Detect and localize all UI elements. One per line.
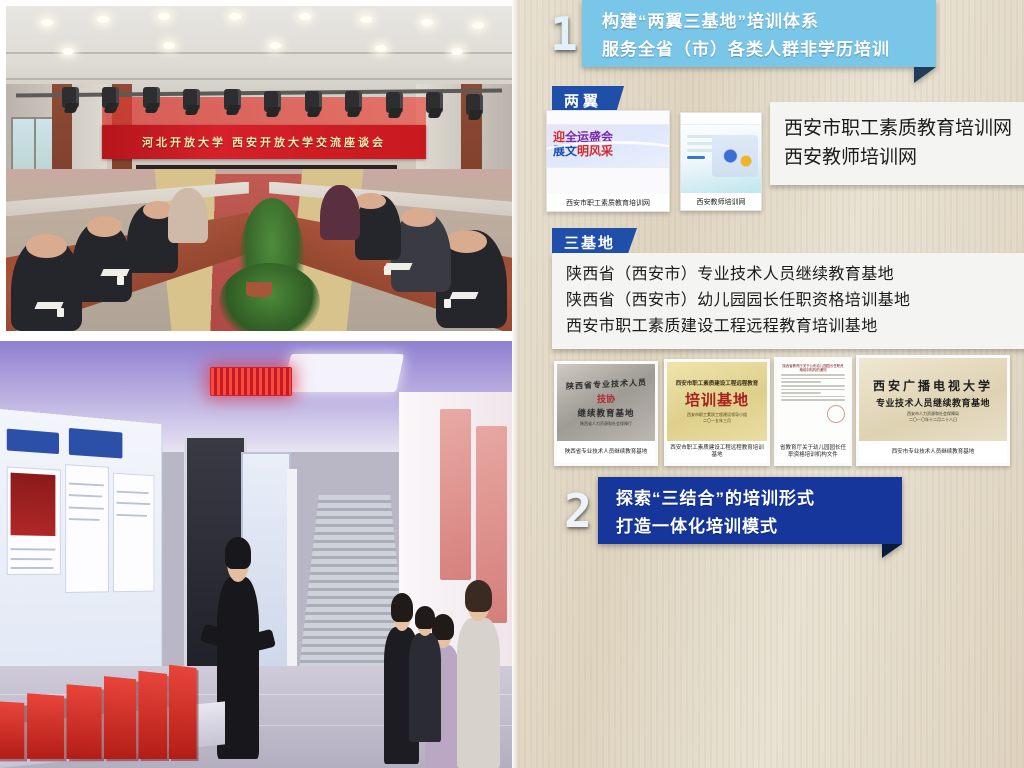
plaque-2-line3: 西安市职工素质工程建设领导小组二〇一五年三月 <box>687 412 747 423</box>
plaque-1-logo: 技协 <box>597 392 615 405</box>
meeting-table-scene <box>6 169 512 332</box>
red-wall-letters <box>0 626 205 759</box>
base-name-3: 西安市职工素质建设工程远程教育培训基地 <box>566 314 1018 340</box>
website-screenshot-2: 西安教师培训网 <box>680 112 762 211</box>
section-2-number: 2 <box>550 477 606 544</box>
graduation-illustration <box>712 135 758 177</box>
section-1-title-line2: 服务全省（市）各类人群非学历培训 <box>602 35 922 60</box>
website-2-caption: 西安教师培训网 <box>681 193 761 210</box>
plaque-3-caption: 省教育厅关于幼儿园园长任职资格培训机构文件 <box>777 441 849 463</box>
section-1-title-line1: 构建“两翼三基地”培训体系 <box>602 7 922 32</box>
plaque-2-line1: 西安市职工素质建设工程远程教育 <box>676 379 759 387</box>
hall-banner: 河北开放大学 西安开放大学交流座谈会 <box>102 125 426 159</box>
plaque-1-line1: 陕西省专业技术人员 <box>566 376 647 391</box>
section-2-title-line1: 探索“三结合”的培训形式 <box>616 484 888 509</box>
banner-fold <box>914 67 936 83</box>
section-1-banner: 1 构建“两翼三基地”培训体系 服务全省（市）各类人群非学历培训 <box>536 0 936 67</box>
plaque-2-line2: 培训基地 <box>685 389 749 410</box>
hall-banner-text: 河北开放大学 西安开放大学交流座谈会 <box>142 134 386 150</box>
base-name-1: 陕西省（西安市）专业技术人员继续教育基地 <box>566 262 1018 288</box>
plaque-1-line3: 陕西省人力资源和社会保障厅 <box>580 421 632 427</box>
plaque-4-line3: 西安市人力资源和社会保障局二〇一〇年十二月二十八日 <box>907 411 959 423</box>
exhibition-board: 1 构建“两翼三基地”培训体系 服务全省（市）各类人群非学历培训 两翼 迎全运盛… <box>512 0 1024 768</box>
plaque-3-doc-title: 陕西省教育厅关于公布幼儿园园长任职资格培训机构的通知 <box>781 364 845 372</box>
plaque-2-caption: 西安市职工素质建设工程远程教育培训基地 <box>667 441 767 463</box>
exhibition-hall-photo <box>0 341 512 768</box>
plaque-photo-1: 陕西省专业技术人员 技协 继续教育基地 陕西省人力资源和社会保障厅 陕西省专业技… <box>554 361 658 466</box>
website-screenshot-1: 迎全运盛会 展文明风采 西安市职工素质教育培训网 <box>546 110 670 212</box>
conference-hall-scene: 河北开放大学 西安开放大学交流座谈会 河北开放大学 西安开放大学 交流座谈会 <box>6 6 512 331</box>
conference-room-photo: 河北开放大学 西安开放大学交流座谈会 河北开放大学 西安开放大学 交流座谈会 <box>6 6 512 331</box>
plaque-photo-4: 西安广播电视大学 专业技术人员继续教育基地 西安市人力资源和社会保障局二〇一〇年… <box>856 355 1010 466</box>
visitor-3 <box>451 580 507 768</box>
website-1-caption: 西安市职工素质教育培训网 <box>547 194 669 211</box>
site-name-1: 西安市职工素质教育培训网 <box>784 114 1024 143</box>
section-1-number: 1 <box>536 0 592 67</box>
section-2-banner: 2 探索“三结合”的培训形式 打造一体化培训模式 <box>550 477 902 544</box>
base-name-2: 陕西省（西安市）幼儿园园长任职资格培训基地 <box>566 288 1018 314</box>
plaque-4-caption: 西安市专业技术人员继续教育基地 <box>859 441 1007 463</box>
plaque-photo-3: 陕西省教育厅关于公布幼儿园园长任职资格培训机构的通知 省教育厅关于幼儿园园长任职… <box>774 357 852 466</box>
neon-sign <box>210 367 292 397</box>
official-seal <box>827 405 845 423</box>
site-name-2: 西安教师培训网 <box>784 143 1024 172</box>
plaque-4-line2: 专业技术人员继续教育基地 <box>876 396 990 409</box>
card-training-bases: 陕西省（西安市）专业技术人员继续教育基地 陕西省（西安市）幼儿园园长任职资格培训… <box>552 253 1024 349</box>
plaque-1-caption: 陕西省专业技术人员继续教育基地 <box>557 441 655 463</box>
screenshot-root: 河北开放大学 西安开放大学交流座谈会 河北开放大学 西安开放大学 交流座谈会 <box>0 0 1024 768</box>
card-training-sites: 西安市职工素质教育培训网 西安教师培训网 <box>770 102 1024 185</box>
exhibition-scene <box>0 341 512 768</box>
plaque-1-line2: 继续教育基地 <box>577 407 634 419</box>
plaque-photo-2: 西安市职工素质建设工程远程教育 培训基地 西安市职工素质工程建设领导小组二〇一五… <box>664 359 770 466</box>
visitor-4 <box>405 606 446 743</box>
banner-fold <box>882 544 902 558</box>
plaque-4-line1: 西安广播电视大学 <box>873 377 993 394</box>
section-2-title-line2: 打造一体化培训模式 <box>616 512 888 537</box>
